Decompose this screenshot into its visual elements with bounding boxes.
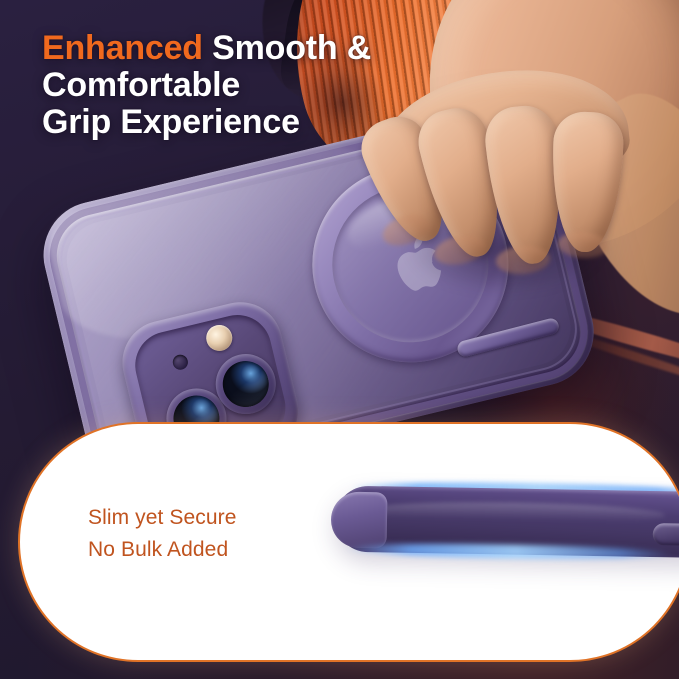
phone-case-side-profile (334, 476, 679, 569)
profile-corner-cap (331, 491, 388, 548)
headline: Enhanced Smooth & Comfortable Grip Exper… (42, 30, 371, 141)
flash-icon (204, 322, 235, 353)
microphone-icon (171, 353, 189, 371)
product-banner: Enhanced Smooth & Comfortable Grip Exper… (0, 0, 679, 679)
profile-sheen (365, 500, 665, 525)
profile-side-button (653, 523, 679, 546)
callout-pill: Slim yet Secure No Bulk Added (18, 422, 679, 662)
headline-accent-word: Enhanced (42, 29, 203, 67)
model-hand (370, 20, 670, 320)
callout-text: Slim yet Secure No Bulk Added (88, 502, 237, 566)
